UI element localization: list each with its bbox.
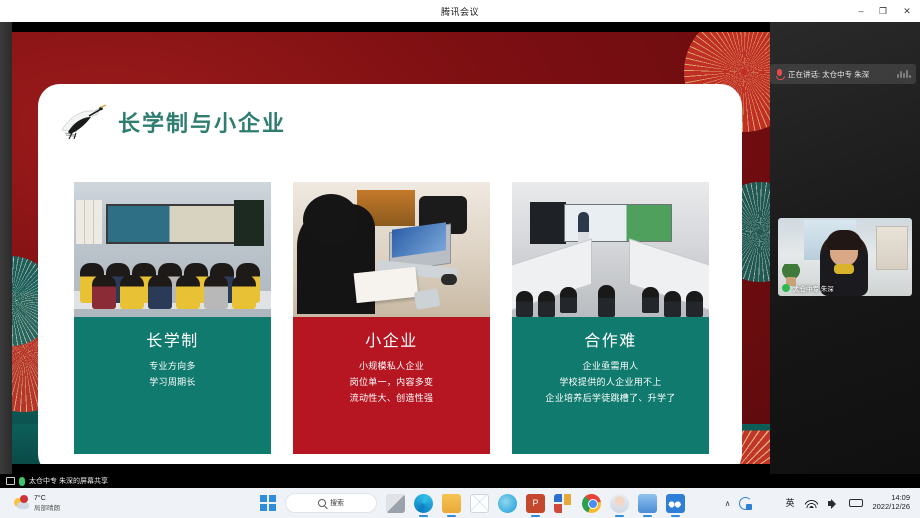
weather-temperature: 7°C <box>34 495 60 502</box>
clock[interactable]: 14:09 2022/12/26 <box>872 494 910 511</box>
ie-icon[interactable] <box>498 494 517 513</box>
powerpoint-icon[interactable]: P <box>526 494 545 513</box>
battery-icon[interactable] <box>849 499 863 507</box>
left-gutter <box>0 22 12 474</box>
photo-company-training-room <box>512 182 709 317</box>
panel-line: 专业方向多 <box>149 359 196 375</box>
search-icon <box>318 499 326 507</box>
photo-student-at-laptop <box>293 182 490 317</box>
maximize-button[interactable]: ❐ <box>872 0 894 22</box>
close-button[interactable]: ✕ <box>894 0 920 22</box>
slide-title: 长学制与小企业 <box>118 106 286 138</box>
participant-hair <box>826 230 862 250</box>
participant-scarf <box>834 264 854 274</box>
office-icon[interactable] <box>554 494 573 513</box>
sync-icon[interactable] <box>739 497 752 510</box>
slide-column: 小企业 小规模私人企业 岗位单一，内容多变 流动性大、创造性强 <box>293 182 490 454</box>
panel-line: 小规模私人企业 <box>359 359 424 375</box>
shared-screen-content: 长学制与小企业 <box>12 32 770 464</box>
panel-line: 企业亟需用人 <box>583 359 639 375</box>
speaking-label: 正在讲话: 太仓中专 朱深 <box>788 69 869 80</box>
meeting-stage: 正在讲话: 太仓中专 朱深 <box>0 22 920 474</box>
slide-title-row: 长学制与小企业 <box>56 102 286 142</box>
system-tray: ∧ 英 14:09 2022/12/26 <box>725 494 920 511</box>
clock-date: 2022/12/26 <box>872 503 910 512</box>
shelf-background-decoration <box>876 226 908 270</box>
tray-overflow-icon[interactable]: ∧ <box>725 499 731 508</box>
slide-card: 长学制与小企业 <box>38 84 742 464</box>
search-box[interactable]: 搜索 <box>285 493 377 513</box>
search-placeholder: 搜索 <box>330 498 344 508</box>
participant-name-badge: 太仓中专 朱深 <box>782 283 834 293</box>
meeting-icon[interactable] <box>610 494 629 513</box>
slide-columns: 长学制 专业方向多 学习周期长 小企业 小规模私人企业 <box>74 182 710 454</box>
windows-logo-icon[interactable] <box>260 495 276 511</box>
mic-active-icon <box>19 477 25 486</box>
slide-column: 长学制 专业方向多 学习周期长 <box>74 182 271 454</box>
weather-widget[interactable]: 7°C 局部晴朗 <box>0 495 260 512</box>
panel-line: 流动性大、创造性强 <box>350 391 434 407</box>
folder-icon[interactable] <box>442 494 461 513</box>
panel-cooperation-difficulty: 合作难 企业亟需用人 学校提供的人企业用不上 企业培养后学徒跳槽了、升学了 <box>512 317 709 454</box>
audio-waveform-icon <box>897 70 911 78</box>
wifi-icon[interactable] <box>805 498 818 508</box>
picture-icon[interactable] <box>638 494 657 513</box>
slide-column: 合作难 企业亟需用人 学校提供的人企业用不上 企业培养后学徒跳槽了、升学了 <box>512 182 709 454</box>
microphone-icon <box>775 69 784 80</box>
microphone-tray-icon[interactable] <box>761 497 774 510</box>
screen-share-status-bar: 太仓中专 朱深的屏幕共享 <box>0 474 920 488</box>
ime-language-icon[interactable]: 英 <box>783 497 796 510</box>
crane-bird-icon <box>56 102 110 142</box>
panel-line: 岗位单一，内容多变 <box>350 375 434 391</box>
monitor-icon <box>6 477 15 485</box>
screen-share-label: 太仓中专 朱深的屏幕共享 <box>29 476 108 486</box>
minimize-button[interactable]: – <box>850 0 872 22</box>
panel-line: 学校提供的人企业用不上 <box>559 375 661 391</box>
task-view-icon[interactable] <box>386 494 405 513</box>
weather-icon <box>14 496 30 510</box>
weather-condition: 局部晴朗 <box>34 502 60 512</box>
photo-classroom-students <box>74 182 271 317</box>
participant-name: 太仓中专 朱深 <box>793 283 834 293</box>
panel-long-program: 长学制 专业方向多 学习周期长 <box>74 317 271 454</box>
edge-icon[interactable] <box>414 494 433 513</box>
panel-heading: 合作难 <box>584 327 637 351</box>
panel-line: 企业培养后学徒跳槽了、升学了 <box>545 391 675 407</box>
panel-small-enterprise: 小企业 小规模私人企业 岗位单一，内容多变 流动性大、创造性强 <box>293 317 490 454</box>
participant-video-tile[interactable]: 太仓中专 朱深 <box>778 218 912 296</box>
mail-icon[interactable] <box>470 494 489 513</box>
taskbar-apps: 搜索 P <box>260 493 725 513</box>
volume-icon[interactable] <box>827 498 840 509</box>
window-title-bar: 腾讯会议 – ❐ ✕ <box>0 0 920 22</box>
panel-heading: 小企业 <box>365 327 418 351</box>
mic-status-icon <box>782 284 790 292</box>
panel-heading: 长学制 <box>146 327 199 351</box>
window-title: 腾讯会议 <box>441 5 479 18</box>
panel-line: 学习周期长 <box>149 375 196 391</box>
chrome-icon[interactable] <box>582 494 601 513</box>
screen-icon[interactable] <box>666 494 685 513</box>
windows-taskbar: 7°C 局部晴朗 搜索 P ∧ 英 14:09 2022/12/26 <box>0 488 920 518</box>
speaking-indicator: 正在讲话: 太仓中专 朱深 <box>770 64 916 84</box>
window-controls: – ❐ ✕ <box>850 0 920 22</box>
